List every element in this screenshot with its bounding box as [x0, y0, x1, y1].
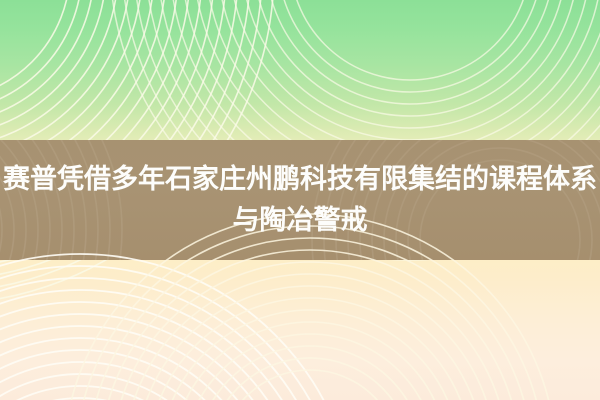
- headline-line-2: 与陶冶警戒: [233, 200, 368, 241]
- bottom-right-arc-rings: [250, 250, 600, 400]
- bottom-left-arc-rings: [0, 300, 340, 400]
- headline-line-1: 赛普凭借多年石家庄州鹏科技有限集结的课程体系: [3, 159, 597, 200]
- headline-text: 赛普凭借多年石家庄州鹏科技有限集结的课程体系 与陶冶警戒: [0, 140, 600, 260]
- banner-image: 赛普凭借多年石家庄州鹏科技有限集结的课程体系 与陶冶警戒: [0, 0, 600, 400]
